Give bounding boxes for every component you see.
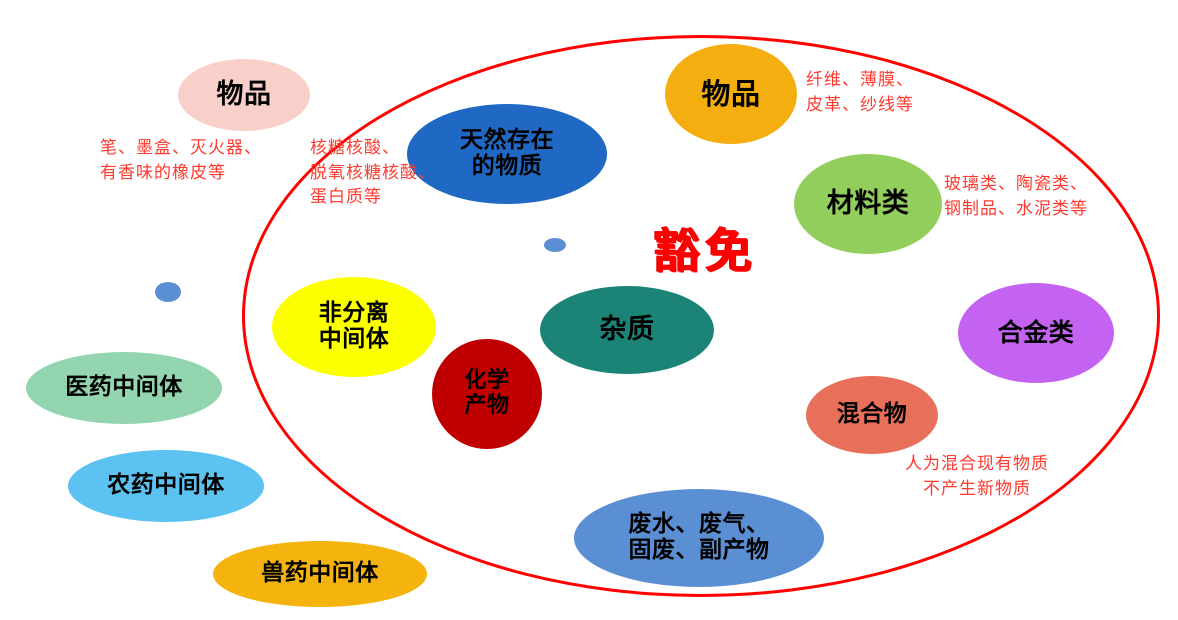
- bubble-hejin[interactable]: 合金类: [958, 283, 1114, 383]
- bubble-cailiao[interactable]: 材料类: [794, 154, 942, 254]
- caption-cap-wupin-pink: 笔、墨盒、灭火器、 有香味的橡皮等: [100, 136, 262, 185]
- dot-left-icon: [155, 282, 181, 302]
- bubble-feishui[interactable]: 废水、废气、 固废、副产物: [574, 489, 824, 587]
- caption-cap-tianran: 核糖核酸、 脱氧核糖核酸、 蛋白质等: [310, 136, 436, 210]
- bubble-wupin-pink[interactable]: 物品: [178, 59, 310, 131]
- caption-cap-wupin-org: 纤维、薄膜、 皮革、纱线等: [806, 68, 914, 117]
- dot-center-icon: [544, 238, 566, 252]
- bubble-nongyao[interactable]: 农药中间体: [68, 450, 264, 522]
- caption-cap-hunhewu: 人为混合现有物质 不产生新物质: [905, 452, 1049, 501]
- exemption-title: 豁免: [653, 228, 757, 275]
- bubble-wupin-orange[interactable]: 物品: [665, 44, 797, 144]
- bubble-hunhewu[interactable]: 混合物: [806, 376, 938, 454]
- bubble-tianran[interactable]: 天然存在 的物质: [407, 104, 607, 204]
- caption-cap-cailiao: 玻璃类、陶瓷类、 钢制品、水泥类等: [944, 172, 1088, 221]
- bubble-feifenli[interactable]: 非分离 中间体: [272, 277, 436, 377]
- bubble-huaxue-chanwu[interactable]: 化学 产物: [432, 339, 542, 449]
- diagram-canvas: 物品天然存在 的物质物品材料类合金类非分离 中间体化学 产物杂质混合物废水、废气…: [0, 0, 1178, 620]
- bubble-zazhi[interactable]: 杂质: [540, 286, 714, 374]
- bubble-yiyao[interactable]: 医药中间体: [26, 352, 222, 424]
- bubble-shouyao[interactable]: 兽药中间体: [213, 541, 427, 607]
